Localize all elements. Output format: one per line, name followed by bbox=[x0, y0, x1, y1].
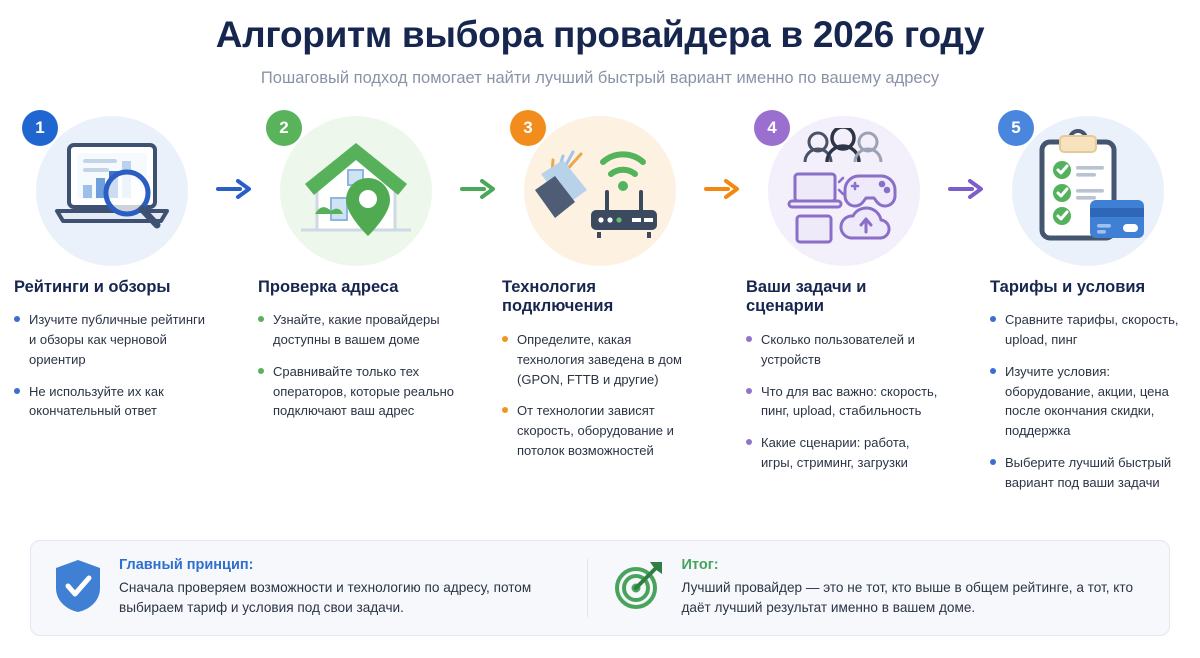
bullet-dot-icon bbox=[258, 368, 264, 374]
column-3-heading: Технология подключения bbox=[502, 278, 698, 318]
step-1-badge: 1 bbox=[22, 110, 58, 146]
step-5-badge: 5 bbox=[998, 110, 1034, 146]
bullet-dot-icon bbox=[990, 459, 996, 465]
bullet-dot-icon bbox=[990, 316, 996, 322]
bullet-text: Узнайте, какие провайдеры доступны в ваш… bbox=[273, 310, 454, 350]
step-2-badge: 2 bbox=[266, 110, 302, 146]
step-2-art-wrap: 2 bbox=[258, 110, 454, 268]
target-arrow-icon bbox=[614, 558, 666, 617]
column-4-bullet-2: Что для вас важно: скорость, пинг, uploa… bbox=[746, 382, 942, 422]
people-devices-icon bbox=[781, 128, 907, 249]
column-gap bbox=[454, 278, 502, 505]
column-5-bullet-2: Изучите условия: оборудование, акции, це… bbox=[990, 362, 1186, 441]
column-gap bbox=[210, 278, 258, 505]
bottom-callout: Главный принцип: Сначала проверяем возмо… bbox=[30, 540, 1170, 636]
callout-left: Главный принцип: Сначала проверяем возмо… bbox=[53, 557, 587, 619]
bullet-dot-icon bbox=[258, 316, 264, 322]
bullet-text: Сравните тарифы, скорость, upload, пинг bbox=[1005, 310, 1186, 350]
bullet-text: Изучите условия: оборудование, акции, це… bbox=[1005, 362, 1186, 441]
step-4-art-wrap: 4 bbox=[746, 110, 942, 268]
bullet-text: От технологии зависят скорость, оборудов… bbox=[517, 401, 698, 460]
column-gap bbox=[698, 278, 746, 505]
shield-check-icon bbox=[53, 558, 103, 619]
column-1-heading: Рейтинги и обзоры bbox=[14, 278, 210, 298]
callout-right-body: Итог: Лучший провайдер — это не тот, кто… bbox=[682, 557, 1148, 619]
column-1-bullet-2: Не используйте их как окончательный отве… bbox=[14, 382, 210, 422]
callout-left-text: Сначала проверяем возможности и технолог… bbox=[119, 578, 587, 619]
columns-row: Рейтинги и обзоры Изучите публичные рейт… bbox=[0, 278, 1200, 505]
arrow-3-4 bbox=[698, 110, 746, 268]
arrow-4-5 bbox=[942, 110, 990, 268]
bullet-dot-icon bbox=[14, 316, 20, 322]
bullet-text: Определите, какая технология заведена в … bbox=[517, 330, 698, 389]
step-2: 2 bbox=[258, 110, 454, 268]
bullet-text: Сравнивайте только тех операторов, котор… bbox=[273, 362, 454, 421]
column-2: Проверка адреса Узнайте, какие провайдер… bbox=[258, 278, 454, 505]
bullet-dot-icon bbox=[990, 368, 996, 374]
step-3: 3 bbox=[502, 110, 698, 268]
bullet-text: Какие сценарии: работа, игры, стриминг, … bbox=[761, 433, 942, 473]
fiber-cable-router-wifi-icon bbox=[533, 130, 667, 247]
callout-left-label: Главный принцип: bbox=[119, 557, 587, 573]
column-3-bullet-2: От технологии зависят скорость, оборудов… bbox=[502, 401, 698, 460]
step-1-art-wrap: 1 bbox=[14, 110, 210, 268]
column-2-heading: Проверка адреса bbox=[258, 278, 454, 298]
callout-right: Итог: Лучший провайдер — это не тот, кто… bbox=[588, 557, 1148, 619]
bullet-text: Не используйте их как окончательный отве… bbox=[29, 382, 210, 422]
page-title: Алгоритм выбора провайдера в 2026 году bbox=[0, 14, 1200, 57]
arrow-2-3 bbox=[454, 110, 502, 268]
bullet-dot-icon bbox=[14, 388, 20, 394]
column-4: Ваши задачи и сценарии Сколько пользоват… bbox=[746, 278, 942, 505]
infographic-page: Алгоритм выбора провайдера в 2026 году П… bbox=[0, 0, 1200, 658]
house-location-pin-icon bbox=[293, 130, 419, 247]
column-5-bullet-1: Сравните тарифы, скорость, upload, пинг bbox=[990, 310, 1186, 350]
column-1: Рейтинги и обзоры Изучите публичные рейт… bbox=[14, 278, 210, 505]
column-4-bullet-1: Сколько пользователей и устройств bbox=[746, 330, 942, 370]
bullet-dot-icon bbox=[502, 336, 508, 342]
callout-left-body: Главный принцип: Сначала проверяем возмо… bbox=[119, 557, 587, 619]
step-5: 5 bbox=[990, 110, 1186, 268]
callout-right-text: Лучший провайдер — это не тот, кто выше … bbox=[682, 578, 1148, 619]
column-5-bullet-3: Выберите лучший быстрый вариант под ваши… bbox=[990, 453, 1186, 493]
column-3-bullet-1: Определите, какая технология заведена в … bbox=[502, 330, 698, 389]
column-1-bullet-1: Изучите публичные рейтинги и обзоры как … bbox=[14, 310, 210, 369]
column-3: Технология подключения Определите, какая… bbox=[502, 278, 698, 505]
page-subtitle: Пошаговый подход помогает найти лучший б… bbox=[0, 69, 1200, 88]
bullet-text: Что для вас важно: скорость, пинг, uploa… bbox=[761, 382, 942, 422]
bullet-dot-icon bbox=[746, 388, 752, 394]
column-2-bullet-2: Сравнивайте только тех операторов, котор… bbox=[258, 362, 454, 421]
arrow-1-2 bbox=[210, 110, 258, 268]
step-5-art-wrap: 5 bbox=[990, 110, 1186, 268]
bullet-dot-icon bbox=[746, 439, 752, 445]
bullet-text: Изучите публичные рейтинги и обзоры как … bbox=[29, 310, 210, 369]
callout-right-label: Итог: bbox=[682, 557, 1148, 573]
column-5: Тарифы и условия Сравните тарифы, скорос… bbox=[990, 278, 1186, 505]
column-5-heading: Тарифы и условия bbox=[990, 278, 1186, 298]
column-gap bbox=[942, 278, 990, 505]
step-1: 1 bbox=[14, 110, 210, 268]
clipboard-checklist-card-icon bbox=[1028, 128, 1148, 249]
bullet-dot-icon bbox=[746, 336, 752, 342]
bullet-dot-icon bbox=[502, 407, 508, 413]
step-3-art-wrap: 3 bbox=[502, 110, 698, 268]
step-4: 4 bbox=[746, 110, 942, 268]
bullet-text: Выберите лучший быстрый вариант под ваши… bbox=[1005, 453, 1186, 493]
bullet-text: Сколько пользователей и устройств bbox=[761, 330, 942, 370]
step-3-badge: 3 bbox=[510, 110, 546, 146]
column-2-bullet-1: Узнайте, какие провайдеры доступны в ваш… bbox=[258, 310, 454, 350]
column-4-heading: Ваши задачи и сценарии bbox=[746, 278, 942, 318]
laptop-chart-magnifier-icon bbox=[47, 131, 177, 246]
step-4-badge: 4 bbox=[754, 110, 790, 146]
header: Алгоритм выбора провайдера в 2026 году П… bbox=[0, 0, 1200, 88]
steps-row: 1 bbox=[0, 110, 1200, 268]
column-4-bullet-3: Какие сценарии: работа, игры, стриминг, … bbox=[746, 433, 942, 473]
